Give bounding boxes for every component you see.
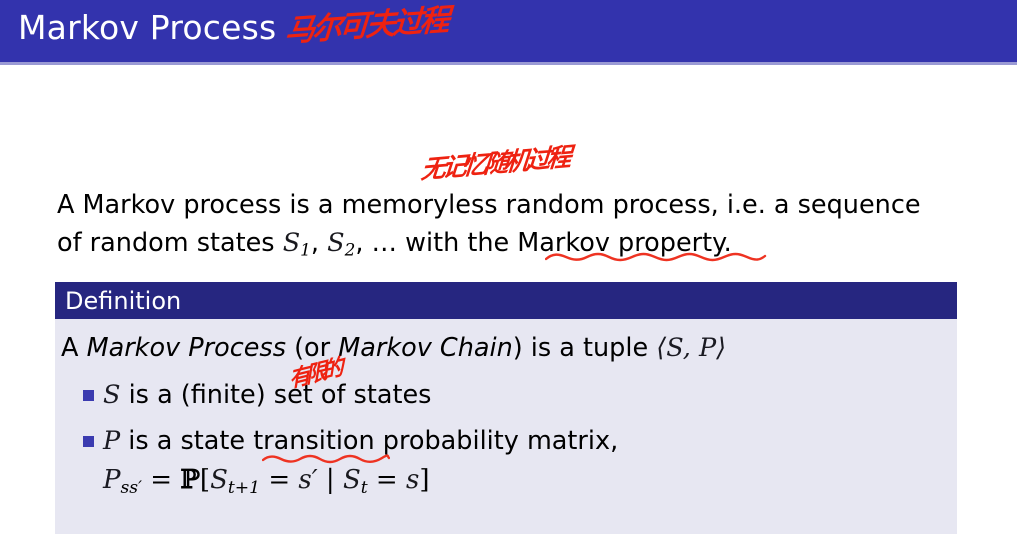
formula-p-cal: P <box>103 465 121 495</box>
term-markov-chain: Markov Chain <box>338 333 513 363</box>
formula-p-subscript: ss′ <box>121 478 143 498</box>
tuple-notation: ⟨S, P⟩ <box>656 333 726 363</box>
intro-line2-suffix: , … with the Markov property. <box>355 228 731 258</box>
bullet-line-state-space: S is a (finite) set of states <box>103 377 957 413</box>
page-title: Markov Process <box>18 8 276 47</box>
bullet-line-transition-matrix: P is a state transition probability matr… <box>103 423 957 459</box>
symbol-script-s: S <box>103 380 120 410</box>
definition-bullet-list: S is a (finite) set of states P is a sta… <box>55 369 957 508</box>
bullet-square-icon <box>83 390 94 401</box>
formula-equals-1: = <box>142 465 180 495</box>
formula-state-next-subscript: t+1 <box>228 478 260 498</box>
bullet-text-state-space: is a (finite) set of states <box>120 380 431 410</box>
definition-lead-end: ) is a tuple <box>513 333 657 363</box>
definition-header: Definition <box>55 282 957 319</box>
formula-s-small: s <box>406 465 419 495</box>
intro-paragraph-line-1: A Markov process is a memoryless random … <box>57 186 957 224</box>
list-item: S is a (finite) set of states <box>55 369 957 415</box>
definition-header-title: Definition <box>65 287 181 315</box>
formula-s-prime: s′ <box>298 465 317 495</box>
intro-line2-prefix: of random states <box>57 228 283 258</box>
definition-block: Definition A Markov Process (or Markov C… <box>55 282 957 534</box>
formula-state-current: S <box>343 465 361 495</box>
list-item: P is a state transition probability matr… <box>55 415 957 508</box>
formula-conditional-bar: | <box>318 465 343 495</box>
bullet-text-transition-matrix: is a state transition probability matrix… <box>120 426 618 456</box>
state-symbol-s2: S <box>327 228 344 258</box>
definition-body: A Markov Process (or Markov Chain) is a … <box>55 319 957 534</box>
term-markov-process: Markov Process <box>87 333 286 363</box>
intro-line2-sep: , <box>311 228 327 258</box>
transition-probability-formula: Pss′ = ℙ[St+1 = s′ | St = s] <box>103 459 957 506</box>
symbol-script-p: P <box>103 426 120 456</box>
definition-lead-sentence: A Markov Process (or Markov Chain) is a … <box>55 333 957 369</box>
formula-bracket-open: [ <box>200 465 210 495</box>
formula-bracket-close: ] <box>419 465 429 495</box>
formula-state-next: S <box>210 465 228 495</box>
state-symbol-s1: S <box>283 228 300 258</box>
intro-paragraph: A Markov process is a memoryless random … <box>57 186 957 269</box>
definition-lead-middle: (or <box>286 333 338 363</box>
definition-lead-prefix: A <box>61 333 87 363</box>
ink-annotation-memoryless: 无记忆随机过程 <box>420 137 570 186</box>
formula-equals-2: = <box>260 465 298 495</box>
slide-title-underline <box>0 62 1017 65</box>
intro-paragraph-line-2: of random states S1, S2, … with the Mark… <box>57 224 957 269</box>
formula-equals-3: = <box>368 465 406 495</box>
state-subscript-1: 1 <box>300 240 311 260</box>
bullet-square-icon <box>83 436 94 447</box>
formula-state-current-subscript: t <box>361 478 368 498</box>
state-subscript-2: 2 <box>345 240 356 260</box>
formula-prob-symbol: ℙ <box>180 465 200 495</box>
